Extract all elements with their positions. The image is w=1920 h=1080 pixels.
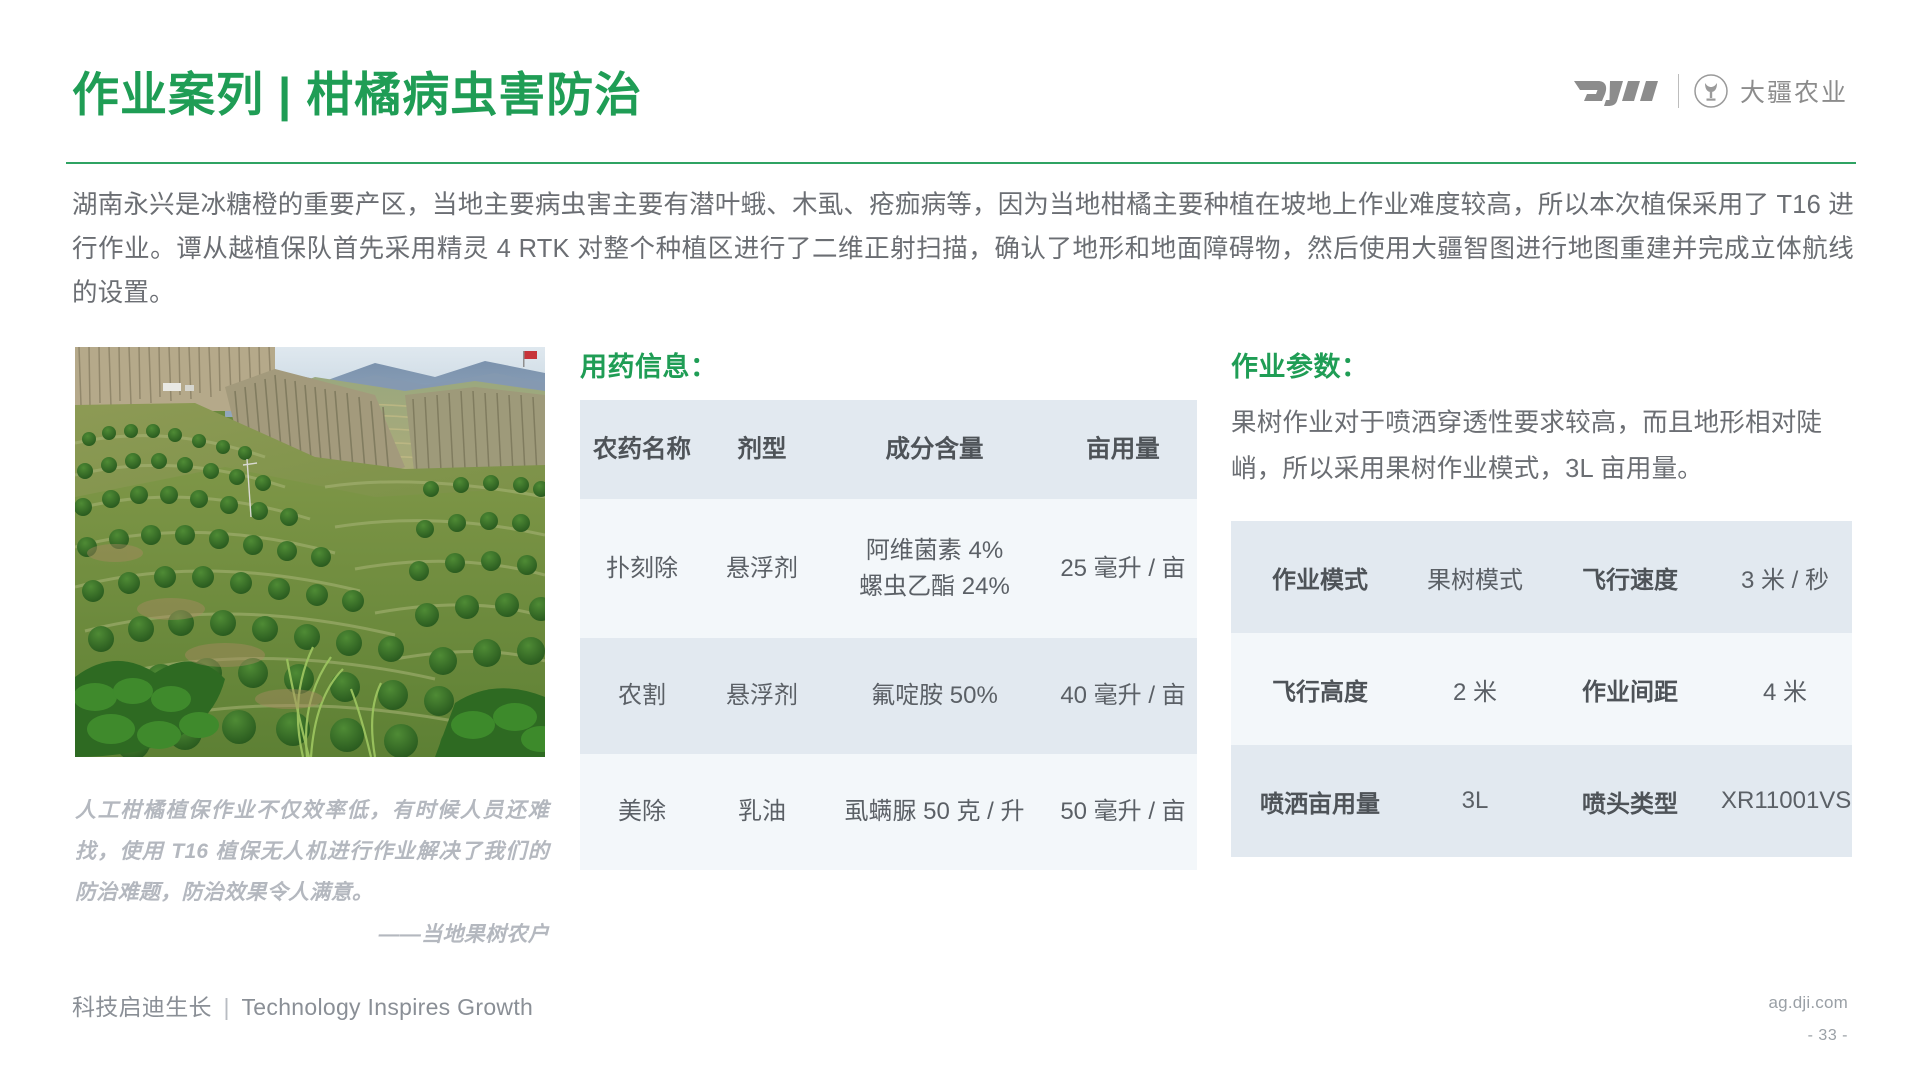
cell-param-key: 喷头类型 <box>1541 784 1719 819</box>
footer-slogan: 科技启迪生长 | Technology Inspires Growth <box>72 988 533 1022</box>
intro-paragraph: 湖南永兴是冰糖橙的重要产区，当地主要病虫害主要有潜叶蛾、木虱、疮痂病等，因为当地… <box>72 183 1854 315</box>
cell-pesticide-name: 农割 <box>580 678 704 714</box>
medication-section-label: 用药信息： <box>580 345 718 384</box>
cell-dose: 40 毫升 / 亩 <box>1049 678 1197 714</box>
column-header-pesticide-name: 农药名称 <box>580 432 704 468</box>
agriculture-label: 大疆农业 <box>1740 73 1848 109</box>
footer-slogan-cn: 科技启迪生长 <box>72 994 212 1020</box>
parameters-intro-paragraph: 果树作业对于喷洒穿透性要求较高，而且地形相对陡峭，所以采用果树作业模式，3L 亩… <box>1231 400 1856 492</box>
cell-formulation: 悬浮剂 <box>704 678 820 714</box>
cell-ingredient-line-2: 螺虫乙酯 24% <box>822 569 1047 605</box>
column-header-formulation: 剂型 <box>704 432 820 468</box>
cell-param-key: 作业间距 <box>1541 672 1719 707</box>
cell-param-value: 3 米 / 秒 <box>1719 560 1851 595</box>
slide-root: 作业案列 | 柑橘病虫害防治 大疆农业 <box>0 0 1920 1080</box>
cell-param-value: XR11001VS <box>1719 787 1851 815</box>
cell-param-value: 4 米 <box>1719 672 1851 707</box>
cell-param-value: 2 米 <box>1409 672 1541 707</box>
cell-param-value: 果树模式 <box>1409 560 1541 595</box>
cell-formulation: 悬浮剂 <box>704 551 820 587</box>
orchard-photo-image <box>75 347 545 757</box>
cell-ingredient: 虱螨脲 50 克 / 升 <box>820 794 1049 830</box>
table-header-row: 农药名称 剂型 成分含量 亩用量 <box>580 400 1197 499</box>
table-row: 作业模式 果树模式 飞行速度 3 米 / 秒 <box>1231 521 1852 633</box>
farmer-quote-source: ——当地果树农户 <box>75 918 549 948</box>
title-divider <box>66 162 1856 164</box>
cell-ingredient: 氟啶胺 50% <box>820 678 1049 714</box>
table-row: 扑刻除 悬浮剂 阿维菌素 4% 螺虫乙酯 24% 25 毫升 / 亩 <box>580 499 1197 638</box>
column-header-ingredient: 成分含量 <box>820 432 1049 468</box>
cell-dose: 50 毫升 / 亩 <box>1049 794 1197 830</box>
cell-pesticide-name: 扑刻除 <box>580 551 704 587</box>
orchard-photo <box>75 347 545 757</box>
cell-param-value: 3L <box>1409 787 1541 815</box>
cell-ingredient-line-1: 阿维菌素 4% <box>822 533 1047 569</box>
cell-param-key: 飞行高度 <box>1231 672 1409 707</box>
table-row: 美除 乳油 虱螨脲 50 克 / 升 50 毫升 / 亩 <box>580 754 1197 870</box>
brand-logo-block: 大疆农业 <box>1568 73 1848 115</box>
slide-header: 作业案列 | 柑橘病虫害防治 大疆农业 <box>72 56 1848 132</box>
cell-param-key: 喷洒亩用量 <box>1231 784 1409 819</box>
medication-table: 农药名称 剂型 成分含量 亩用量 扑刻除 悬浮剂 阿维菌素 4% 螺虫乙酯 24… <box>580 400 1197 870</box>
cell-param-key: 飞行速度 <box>1541 560 1719 595</box>
dji-agriculture-badge-icon <box>1693 73 1729 109</box>
footer-separator: | <box>219 994 235 1020</box>
column-header-dose: 亩用量 <box>1049 432 1197 468</box>
parameters-table: 作业模式 果树模式 飞行速度 3 米 / 秒 飞行高度 2 米 作业间距 4 米… <box>1231 521 1852 857</box>
dji-agriculture-mark: 大疆农业 <box>1693 73 1848 109</box>
table-row: 喷洒亩用量 3L 喷头类型 XR11001VS <box>1231 745 1852 857</box>
footer-website: ag.dji.com <box>1769 993 1848 1013</box>
cell-ingredient: 阿维菌素 4% 螺虫乙酯 24% <box>820 533 1049 605</box>
cell-param-key: 作业模式 <box>1231 560 1409 595</box>
cell-dose: 25 毫升 / 亩 <box>1049 551 1197 587</box>
cell-pesticide-name: 美除 <box>580 794 704 830</box>
farmer-quote: 人工柑橘植保作业不仅效率低，有时候人员还难找，使用 T16 植保无人机进行作业解… <box>75 790 549 913</box>
parameters-section-label: 作业参数： <box>1231 345 1369 384</box>
footer-page-number: - 33 - <box>1808 1027 1848 1045</box>
table-row: 飞行高度 2 米 作业间距 4 米 <box>1231 633 1852 745</box>
footer-slogan-en: Technology Inspires Growth <box>242 994 534 1020</box>
dji-logo-icon <box>1568 76 1664 106</box>
logo-divider <box>1678 74 1679 108</box>
cell-formulation: 乳油 <box>704 794 820 830</box>
table-row: 农割 悬浮剂 氟啶胺 50% 40 毫升 / 亩 <box>580 638 1197 754</box>
page-title: 作业案列 | 柑橘病虫害防治 <box>72 71 642 118</box>
